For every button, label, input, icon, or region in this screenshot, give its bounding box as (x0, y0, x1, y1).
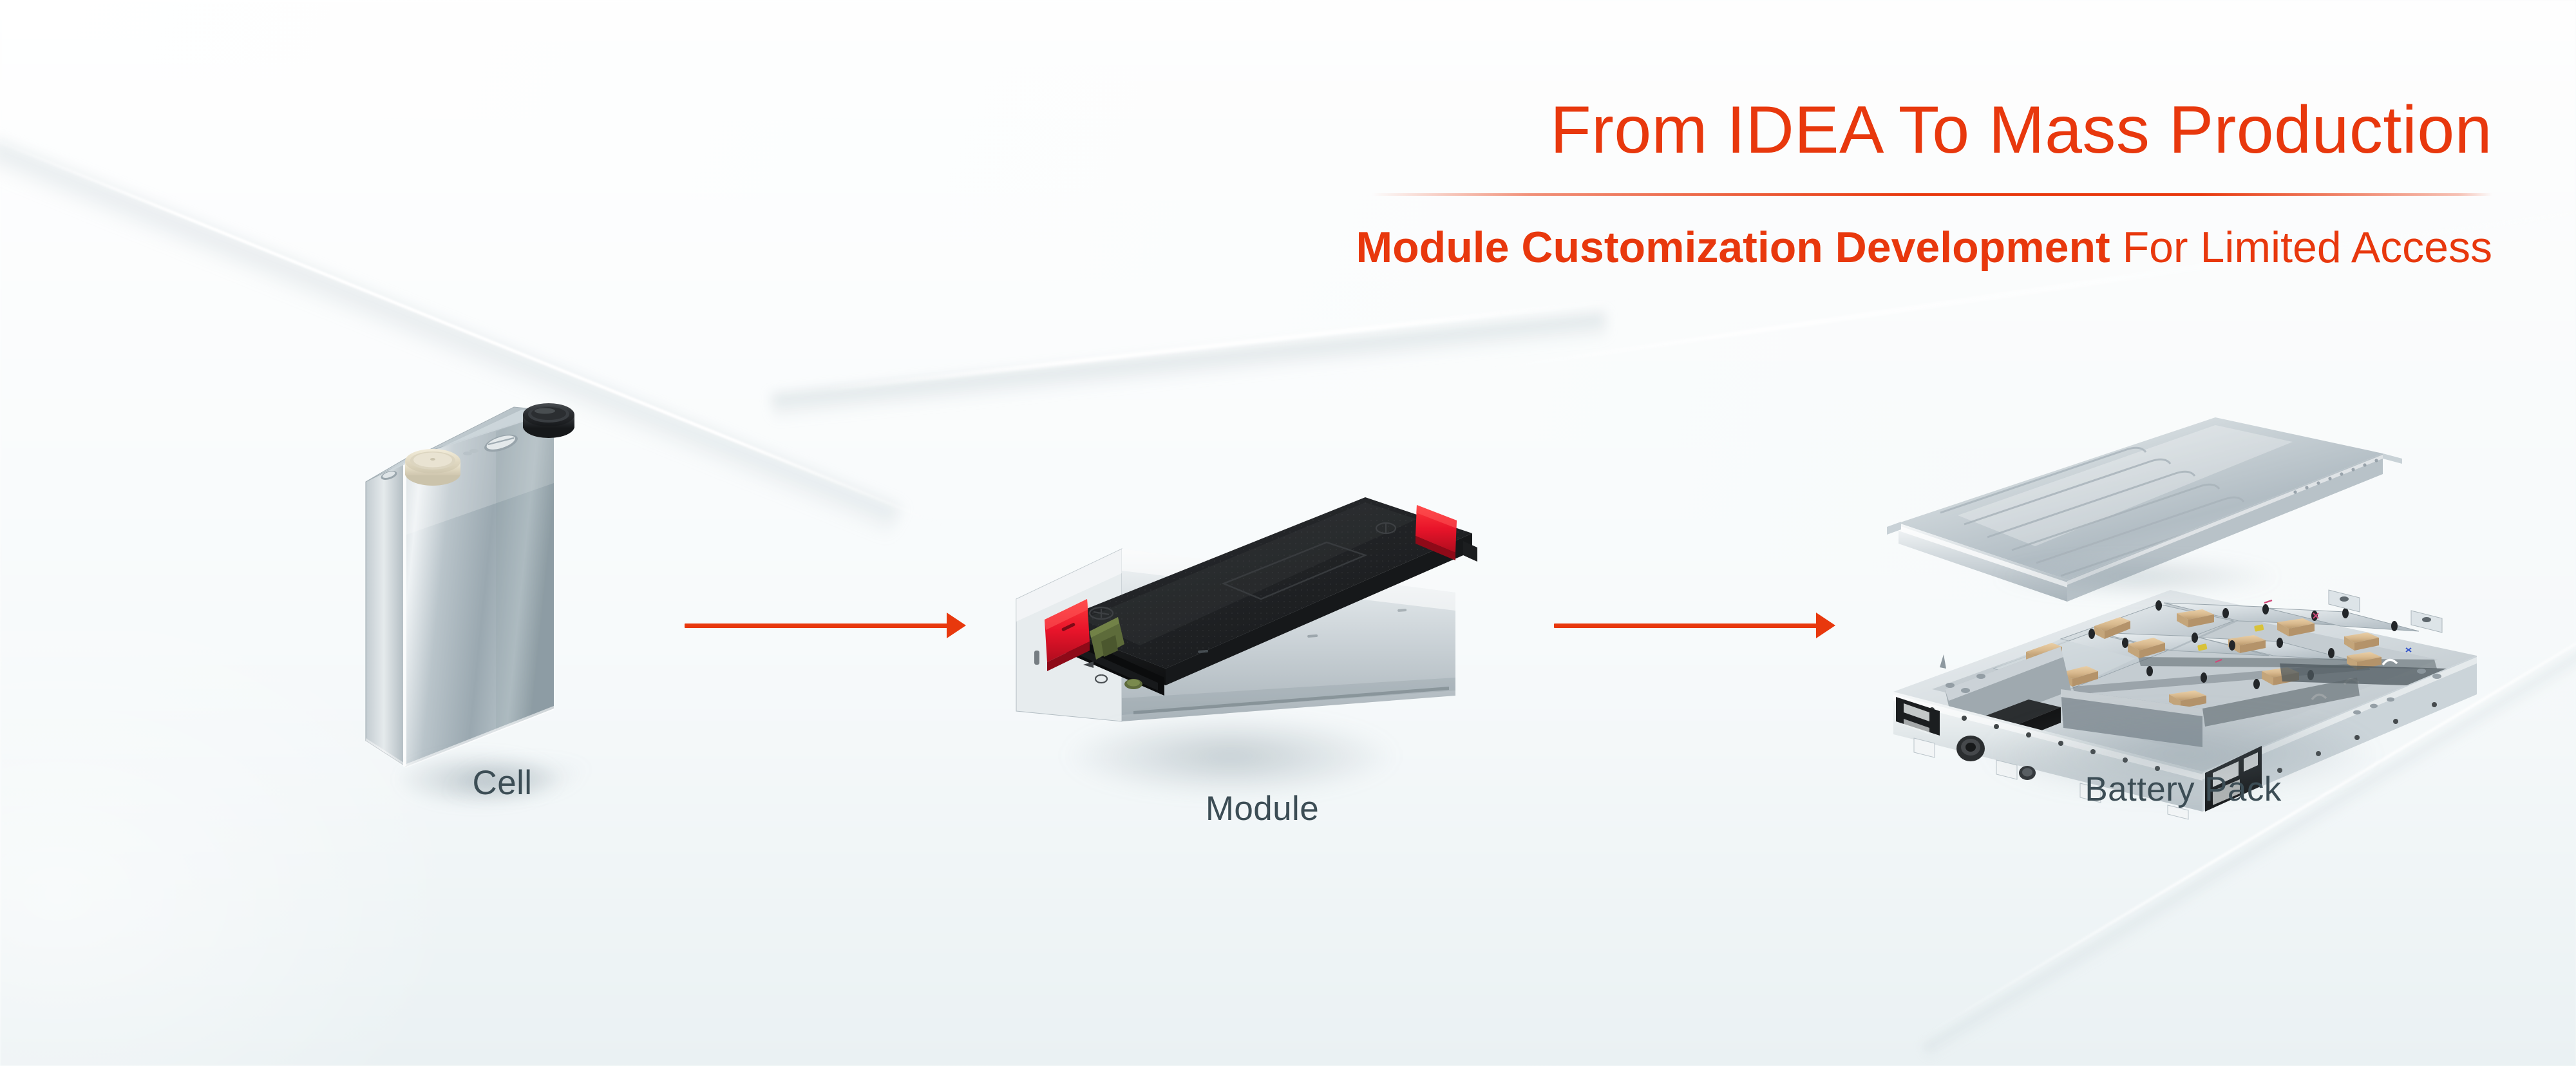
title-divider (1372, 193, 2492, 196)
stage-label-cell: Cell (277, 763, 728, 803)
hero-banner: From IDEA To Mass Production Module Cust… (0, 0, 2576, 1066)
subtitle-rest: For Limited Access (2110, 223, 2492, 272)
subtitle-strong: Module Customization Development (1356, 223, 2110, 272)
arrow-head (1816, 613, 1835, 638)
page-subtitle: Module Customization Development For Lim… (1356, 225, 2493, 269)
stage-cell: Cell (361, 406, 657, 831)
page-title: From IDEA To Mass Production (1356, 97, 2493, 164)
pack-lid-shadow (1951, 547, 2363, 605)
stage-label-pack: Battery Pack (1958, 770, 2409, 809)
stage-module: Module (1005, 438, 1520, 837)
arrow-head (947, 613, 966, 638)
stage-label-module: Module (1037, 789, 1488, 828)
arrow-shaft (1554, 623, 1817, 628)
arrow-right-icon-cell-to-module (685, 613, 966, 638)
stage-pack: Battery Pack (1868, 386, 2512, 837)
prismatic-cell-icon (361, 406, 657, 792)
arrow-right-icon-module-to-pack (1554, 613, 1835, 638)
header-block: From IDEA To Mass Production Module Cust… (1356, 97, 2493, 269)
arrow-shaft (685, 623, 947, 628)
